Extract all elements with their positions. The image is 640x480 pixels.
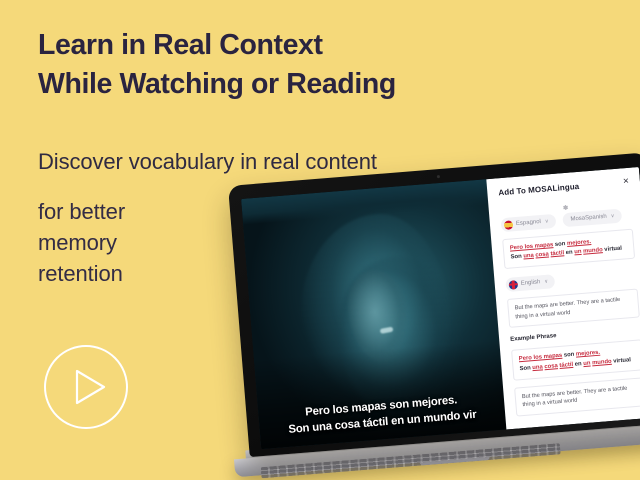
chevron-down-icon: ∨ xyxy=(545,218,549,224)
play-triangle-icon xyxy=(44,345,128,429)
source-language-dropdown[interactable]: Espagnol ∨ xyxy=(500,214,556,232)
promo-banner: Learn in Real Context While Watching or … xyxy=(0,0,640,480)
spain-flag-icon xyxy=(504,220,514,230)
example-translation-card[interactable]: But the maps are better. They are a tact… xyxy=(514,377,640,417)
laptop-lid: Pero los mapas son mejores. Son una cosa… xyxy=(228,152,640,457)
video-player[interactable]: Pero los mapas son mejores. Son una cosa… xyxy=(241,179,506,449)
panel-title: Add To MOSALingua xyxy=(498,178,629,197)
example-source-card[interactable]: Pero los mapas son mejores. Son una cosa… xyxy=(511,340,640,381)
laptop-screen: Pero los mapas son mejores. Son una cosa… xyxy=(241,167,640,449)
target-language-label: English xyxy=(521,280,541,288)
target-language-row: English ∨ xyxy=(505,268,637,292)
gear-icon[interactable] xyxy=(561,198,569,217)
subheadline: Discover vocabulary in real content xyxy=(38,148,377,176)
webcam-icon xyxy=(436,175,439,178)
translation-card[interactable]: But the maps are better. They are a tact… xyxy=(507,289,640,329)
chevron-down-icon: ∨ xyxy=(544,279,548,285)
deck-dropdown[interactable]: MosaSpanish ∨ xyxy=(562,209,622,228)
source-text-card[interactable]: Pero los mapas son mejores. Son una cosa… xyxy=(502,229,635,270)
chevron-down-icon: ∨ xyxy=(610,213,614,219)
uk-flag-icon xyxy=(508,280,518,290)
source-language-label: Espagnol xyxy=(516,219,541,227)
page-title: Learn in Real Context While Watching or … xyxy=(38,26,396,105)
tagline: for better memory retention xyxy=(38,196,125,290)
deck-label: MosaSpanish xyxy=(570,214,607,223)
laptop-mockup: Pero los mapas son mejores. Son una cosa… xyxy=(228,152,640,480)
example-translation-text: But the maps are better. They are a tact… xyxy=(522,383,640,409)
close-icon[interactable]: × xyxy=(623,177,630,187)
translation-text: But the maps are better. They are a tact… xyxy=(514,295,632,321)
mosalingua-extension-panel: Add To MOSALingua × xyxy=(486,167,640,429)
target-language-dropdown[interactable]: English ∨ xyxy=(505,274,555,292)
play-button[interactable] xyxy=(44,345,128,429)
